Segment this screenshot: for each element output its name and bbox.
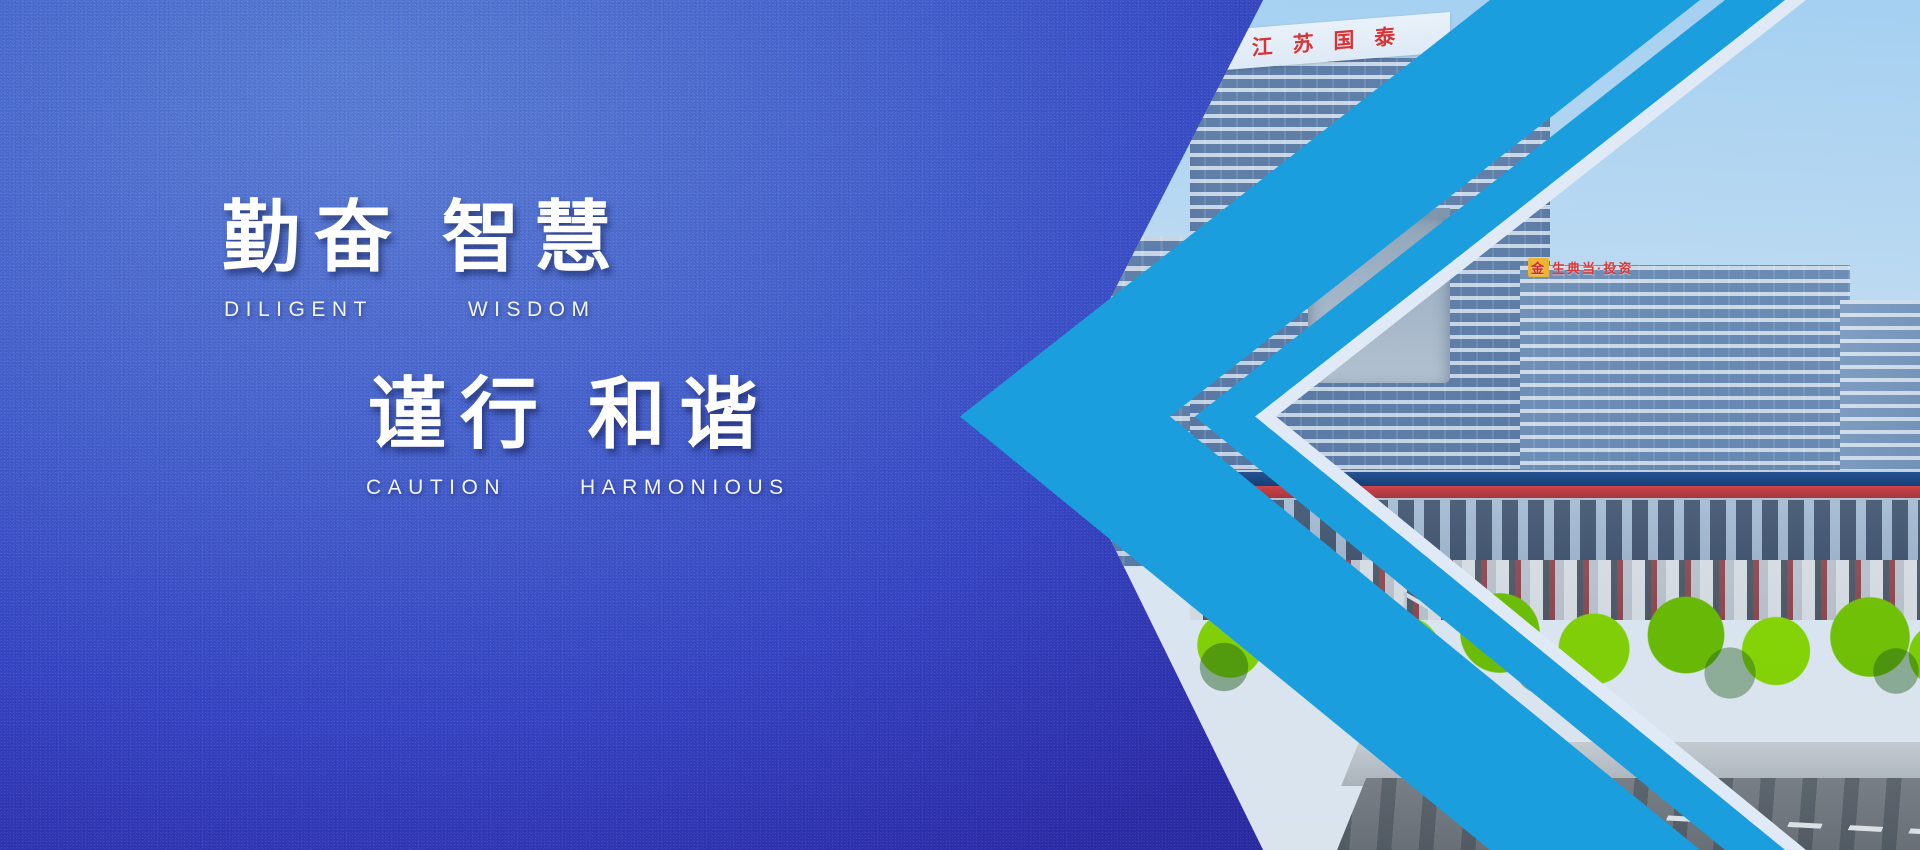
slogan-english-caution: CAUTION: [366, 476, 506, 499]
shop-sign-logo: 金: [1528, 258, 1549, 277]
slogan-chinese-row-2: 谨行 和谐: [368, 375, 772, 453]
corporate-culture-banner: 江 苏 国 泰 金生典当·投资 勤奋 智慧: [0, 0, 1920, 850]
shop-sign: 金生典当·投资: [1528, 258, 1633, 277]
slogan-english-row-2: CAUTIONHARMONIOUS: [366, 476, 790, 500]
slogan-block: 勤奋 智慧 DILIGENTWISDOM 谨行 和谐 CAUTIONHARMON…: [0, 0, 1000, 850]
slogan-english-wisdom: WISDOM: [468, 298, 596, 321]
slogan-chinese-row-1: 勤奋 智慧: [222, 198, 626, 276]
slogan-english-harmonious: HARMONIOUS: [580, 476, 790, 499]
slogan-english-diligent: DILIGENT: [224, 298, 373, 321]
shop-sign-text: 生典当·投资: [1552, 261, 1633, 276]
slogan-english-row-1: DILIGENTWISDOM: [224, 298, 596, 322]
